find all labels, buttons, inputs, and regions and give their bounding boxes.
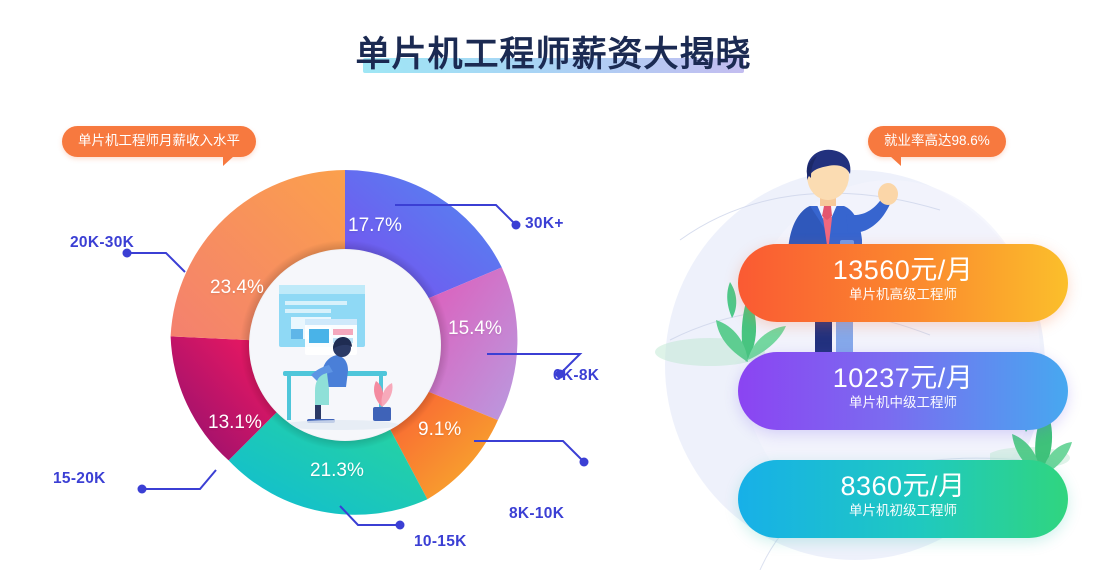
badge-employment-rate: 就业率高达98.6% — [868, 126, 1006, 157]
salary-card-intermediate-role: 单片机中级工程师 — [738, 393, 1068, 413]
callout-label-15-20k: 15-20K — [53, 470, 106, 488]
callout-label-6k-8k: 6K-8K — [553, 367, 599, 385]
badge-employment-rate-text: 就业率高达98.6% — [884, 133, 990, 148]
salary-card-intermediate-amount: 10237元/月 — [738, 364, 1068, 393]
badge-tail — [890, 156, 901, 166]
salary-card-junior-amount: 8360元/月 — [738, 472, 1068, 501]
salary-distribution-donut-chart: 17.7% 15.4% 9.1% 21.3% 13.1% 23.4% — [170, 170, 520, 520]
segment-percent-6k-8k: 15.4% — [448, 318, 502, 340]
page-title-text: 单片机工程师薪资大揭晓 — [355, 35, 751, 74]
salary-card-senior-amount: 13560元/月 — [738, 256, 1068, 285]
callout-label-30k: 30K+ — [525, 215, 564, 233]
badge-income-level: 单片机工程师月薪收入水平 — [62, 126, 256, 157]
segment-percent-10-15k: 21.3% — [310, 460, 364, 482]
page-title: 单片机工程师薪资大揭晓 — [0, 26, 1107, 77]
callout-label-20-30k: 20K-30K — [70, 234, 134, 252]
infographic-stage: 单片机工程师薪资大揭晓 — [0, 0, 1107, 580]
callout-label-10-15k: 10-15K — [414, 533, 467, 551]
badge-income-level-text: 单片机工程师月薪收入水平 — [78, 133, 240, 148]
segment-percent-15-20k: 13.1% — [208, 412, 262, 434]
donut-center-illustration — [249, 249, 441, 441]
segment-percent-30k: 17.7% — [348, 215, 402, 237]
salary-card-senior: 13560元/月 单片机高级工程师 — [738, 244, 1068, 322]
salary-card-junior-role: 单片机初级工程师 — [738, 501, 1068, 521]
salary-card-intermediate: 10237元/月 单片机中级工程师 — [738, 352, 1068, 430]
segment-percent-20-30k: 23.4% — [210, 277, 264, 299]
callout-label-8k-10k: 8K-10K — [509, 505, 564, 523]
badge-tail — [223, 156, 234, 166]
segment-percent-8k-10k: 9.1% — [418, 419, 461, 441]
salary-card-senior-role: 单片机高级工程师 — [738, 285, 1068, 305]
salary-card-junior: 8360元/月 单片机初级工程师 — [738, 460, 1068, 538]
